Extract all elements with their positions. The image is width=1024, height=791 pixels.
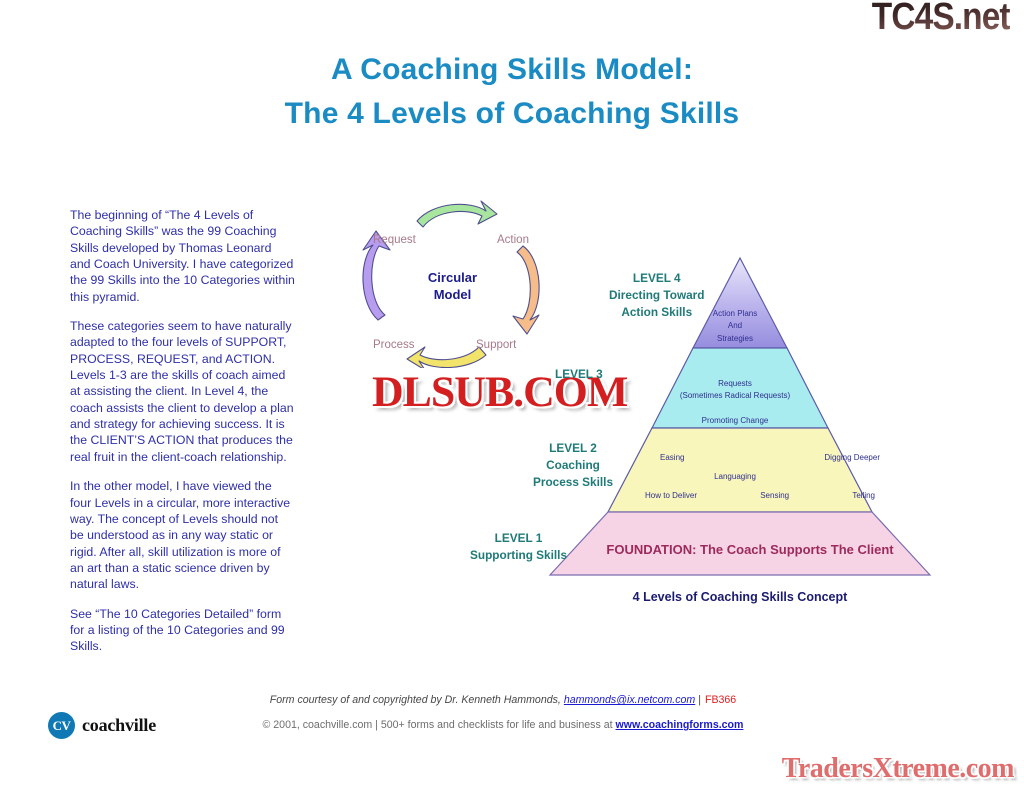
pyramid-skill-languaging: Languaging — [714, 472, 756, 481]
pyramid-level-2-skills-row-1: Easing Digging Deeper — [660, 453, 880, 462]
footer-form-code: FB366 — [705, 694, 736, 706]
pyramid-level-4-label-line-3: Action Skills — [621, 305, 692, 319]
pyramid-level-4-content-line-2: And — [728, 321, 742, 330]
pyramid-level-1-label: LEVEL 1 Supporting Skills — [470, 530, 567, 564]
pyramid-level-4-content: Action Plans And Strategies — [690, 308, 780, 345]
body-paragraph-4: See “The 10 Categories Detailed” form fo… — [70, 606, 295, 655]
body-paragraph-3: In the other model, I have viewed the fo… — [70, 478, 295, 592]
pyramid-skill-digging-deeper: Digging Deeper — [824, 453, 880, 462]
pyramid-level-4-content-line-1: Action Plans — [713, 309, 757, 318]
pyramid-skill-how-to-deliver: How to Deliver — [645, 491, 697, 500]
circular-arrow-top-icon — [417, 201, 497, 227]
tradersxtreme-watermark: TradersXtreme.com — [782, 753, 1014, 785]
pyramid-level-4-content-line-3: Strategies — [717, 334, 753, 343]
pyramid-level-3-content-line-3: Promoting Change — [702, 416, 769, 425]
footer-copyright-text: © 2001, coachville.com | 500+ forms and … — [263, 719, 613, 731]
body-copy: The beginning of “The 4 Levels of Coachi… — [70, 207, 295, 655]
pyramid-level-3-content-line-2: (Sometimes Radical Requests) — [680, 391, 790, 400]
pyramid-level-3-label-line-1: LEVEL 3 — [555, 367, 603, 381]
pyramid-level-2-skills-row-3: How to Deliver Sensing Telling — [645, 491, 875, 500]
footer-separator: | — [698, 694, 701, 706]
pyramid-level-3-label: LEVEL 3 — [555, 366, 603, 383]
pyramid-skill-sensing: Sensing — [760, 491, 789, 500]
pyramid-level-2-label: LEVEL 2 Coaching Process Skills — [533, 440, 613, 490]
coachville-wordmark: coachville — [82, 715, 156, 736]
footer-email-link[interactable]: hammonds@ix.netcom.com — [564, 694, 695, 706]
body-paragraph-1: The beginning of “The 4 Levels of Coachi… — [70, 207, 295, 305]
circular-label-action: Action — [497, 234, 529, 246]
pyramid-foundation-text: FOUNDATION: The Coach Supports The Clien… — [585, 542, 915, 557]
footer-website-link[interactable]: www.coachingforms.com — [616, 719, 744, 731]
pyramid-skill-easing: Easing — [660, 453, 684, 462]
footer-credit-text: Form courtesy of and copyrighted by Dr. … — [270, 694, 561, 706]
coachville-logo[interactable]: CV coachville — [48, 712, 156, 739]
pyramid-level-3-content-line-1: Requests — [718, 379, 752, 388]
tc4s-watermark: TC4S.net — [872, 0, 1010, 39]
circular-label-request: Request — [373, 234, 416, 246]
pyramid-diagram: LEVEL 4 Directing Toward Action Skills L… — [455, 250, 955, 615]
pyramid-skill-telling: Telling — [852, 491, 875, 500]
pyramid-level-4-label-line-2: Directing Toward — [609, 288, 704, 302]
pyramid-level-2-skills-row-2: Languaging — [635, 472, 835, 481]
pyramid-caption: 4 Levels of Coaching Skills Concept — [540, 590, 940, 604]
page-title-line-2: The 4 Levels of Coaching Skills — [0, 92, 1024, 136]
pyramid-level-4-label-line-1: LEVEL 4 — [633, 271, 681, 285]
pyramid-level-2-label-line-1: LEVEL 2 — [549, 441, 597, 455]
coachville-cv-mark-icon: CV — [48, 712, 75, 739]
circular-label-process: Process — [373, 339, 415, 351]
pyramid-level-2-label-line-3: Process Skills — [533, 475, 613, 489]
footer-credit-line: Form courtesy of and copyrighted by Dr. … — [0, 694, 1024, 706]
page-title: A Coaching Skills Model: The 4 Levels of… — [0, 48, 1024, 136]
pyramid-level-3-content: Requests (Sometimes Radical Requests) Pr… — [635, 378, 835, 428]
pyramid-level-1-label-line-1: LEVEL 1 — [495, 531, 543, 545]
page-title-line-1: A Coaching Skills Model: — [331, 53, 693, 86]
pyramid-level-2-label-line-2: Coaching — [546, 458, 600, 472]
body-paragraph-2: These categories seem to have naturally … — [70, 318, 295, 465]
pyramid-level-1-label-line-2: Supporting Skills — [470, 548, 567, 562]
